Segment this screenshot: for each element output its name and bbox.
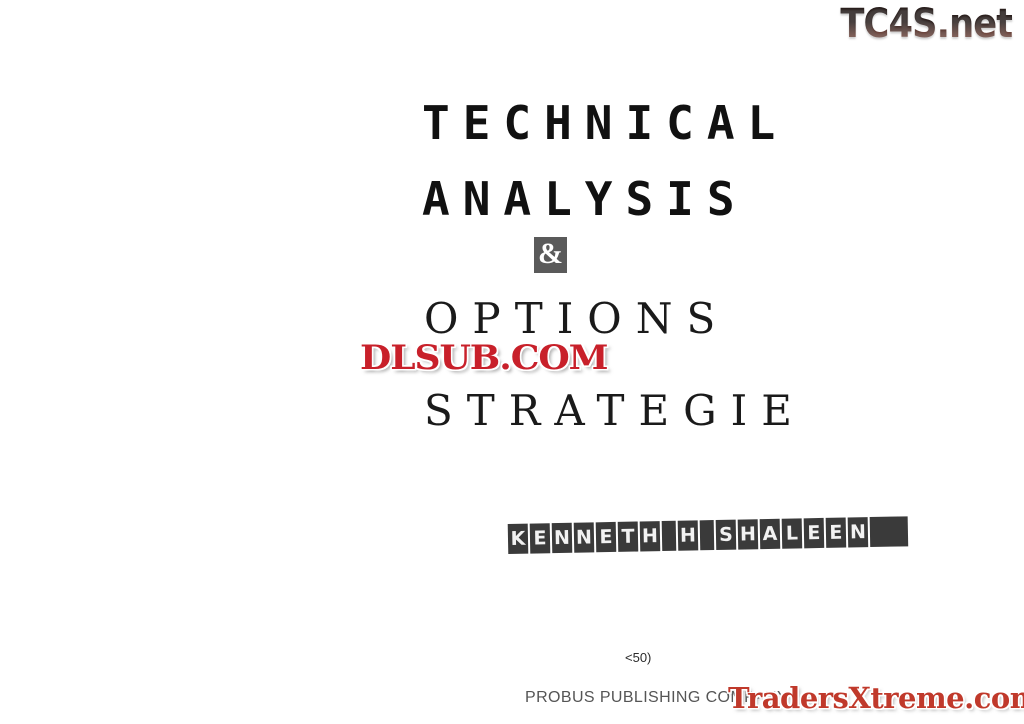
author-tile: S <box>716 520 737 550</box>
author-tile: T <box>618 522 639 552</box>
watermark-tradersxtreme: TradersXtreme.com <box>728 684 1024 713</box>
author-tile: E <box>530 523 551 553</box>
author-tile: A <box>760 519 781 549</box>
author-tile: N <box>848 517 869 547</box>
author-tile: K <box>508 524 529 554</box>
author-tile: E <box>826 518 847 548</box>
title-line-strategie: STRATEGIE <box>424 390 806 432</box>
cover-title-block: TECHNICAL ANALYSIS & OPTIONS DLSUB.COM S… <box>0 0 1024 724</box>
author-tile: L <box>782 518 803 548</box>
author-tile-space <box>700 520 715 550</box>
ampersand-badge: & <box>534 237 567 273</box>
title-line-technical: TECHNICAL <box>422 100 788 146</box>
title-line-analysis: ANALYSIS <box>422 176 748 222</box>
scan-artifact-mark: <50) <box>625 650 651 665</box>
title-line-options: OPTIONS <box>424 298 729 340</box>
author-tile: N <box>574 522 595 552</box>
author-tile: H <box>738 519 759 549</box>
author-tile: N <box>552 523 573 553</box>
author-tile: E <box>804 518 825 548</box>
author-tile: H <box>678 520 699 550</box>
author-tile-space <box>662 521 677 551</box>
author-tile-blank <box>870 516 909 547</box>
watermark-dlsub: DLSUB.COM <box>360 341 607 375</box>
ampersand-glyph: & <box>538 239 563 269</box>
author-tile: E <box>596 522 617 552</box>
author-tile: H <box>640 521 661 551</box>
cover-page: TC4S.net TECHNICAL ANALYSIS & OPTIONS DL… <box>0 0 1024 724</box>
